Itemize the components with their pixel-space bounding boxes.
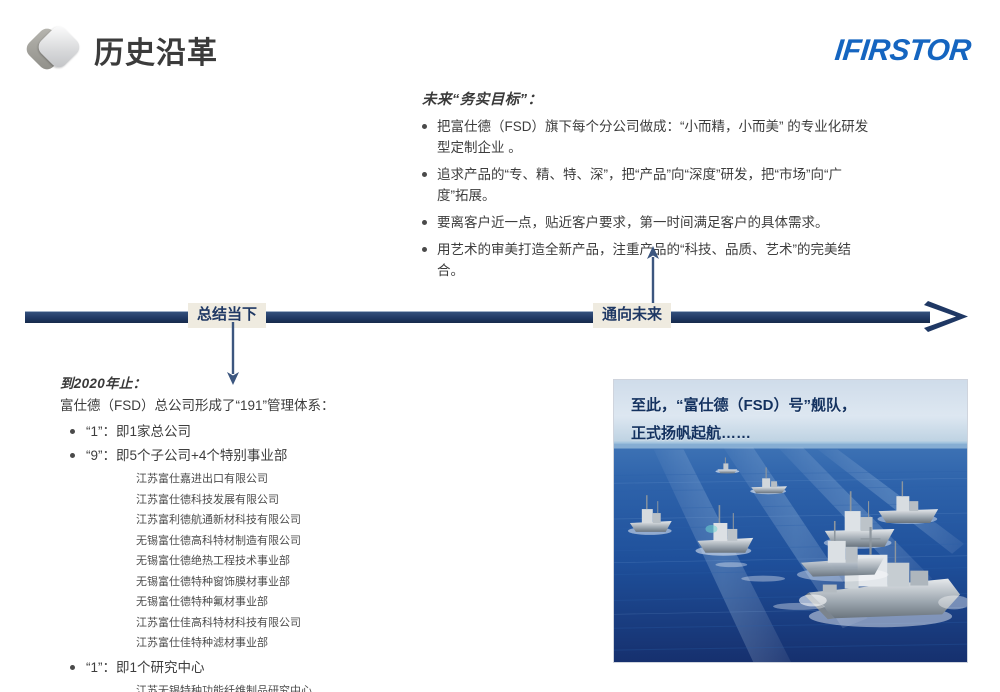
list-item: “1”：即1个研究中心 江苏无锡特种功能纤维制品研究中心 (60, 657, 400, 692)
list-item: “9”：即5个子公司+4个特别事业部 江苏富仕嘉进出口有限公司 江苏富仕德科技发… (60, 445, 400, 654)
diamond-logo-icon (28, 24, 84, 74)
research-center-list: 江苏无锡特种功能纤维制品研究中心 (86, 681, 400, 692)
subsidiary-item: 江苏富仕佳高科特材科技有限公司 (136, 613, 400, 634)
fleet-caption: 至此，“富仕德（FSD）号”舰队， 正式扬帆起航…… (631, 392, 856, 448)
research-center-item: 江苏无锡特种功能纤维制品研究中心 (136, 681, 400, 692)
list-item: “1”：即1家总公司 (60, 421, 400, 442)
slide-canvas: 历史沿革 IFIRSTOR 未来“务实目标”： 把富仕德（FSD）旗下每个分公司… (0, 0, 1000, 692)
past-summary-intro: 富仕德（FSD）总公司形成了“191”管理体系： (60, 396, 400, 416)
past-summary-list: “1”：即1家总公司 “9”：即5个子公司+4个特别事业部 江苏富仕嘉进出口有限… (60, 421, 400, 692)
timeline-bar (25, 311, 930, 323)
page-title: 历史沿革 (94, 28, 218, 72)
subsidiary-item: 无锡富仕德特种窗饰膜材事业部 (136, 572, 400, 593)
timeline-label-future[interactable]: 通向未来 (593, 303, 671, 328)
subsidiary-item: 江苏富仕佳特种滤材事业部 (136, 633, 400, 654)
timeline: 总结当下 通向未来 (0, 300, 1000, 342)
subsidiary-item: 无锡富仕德特种氟材事业部 (136, 592, 400, 613)
brand-logo: IFIRSTOR (833, 34, 972, 68)
subsidiary-item: 无锡富仕德高科特材制造有限公司 (136, 531, 400, 552)
subsidiary-item: 江苏富仕德科技发展有限公司 (136, 490, 400, 511)
past-summary-block: 到2020年止： 富仕德（FSD）总公司形成了“191”管理体系： “1”：即1… (60, 372, 400, 692)
past-summary-heading: 到2020年止： (60, 372, 400, 392)
arrow-right-icon (922, 300, 970, 334)
subsidiary-item: 江苏富利德航通新材科技有限公司 (136, 510, 400, 531)
list-item-label: “1”：即1个研究中心 (86, 657, 400, 678)
list-item: 追求产品的“专、精、特、深”，把“产品”向“深度”研发，把“市场”向“广度”拓展… (420, 164, 872, 206)
list-item: 把富仕德（FSD）旗下每个分公司做成：“小而精，小而美” 的专业化研发型定制企业… (420, 116, 872, 158)
subsidiary-item: 无锡富仕德绝热工程技术事业部 (136, 551, 400, 572)
naval-fleet-figure: 至此，“富仕德（FSD）号”舰队， 正式扬帆起航…… (613, 379, 968, 663)
list-item-label: “1”：即1家总公司 (86, 421, 400, 442)
subsidiary-item: 江苏富仕嘉进出口有限公司 (136, 469, 400, 490)
future-goals-heading: 未来“务实目标”： (422, 88, 872, 109)
list-item-label: “9”：即5个子公司+4个特别事业部 (86, 445, 400, 466)
list-item: 要离客户近一点，贴近客户要求，第一时间满足客户的具体需求。 (420, 212, 872, 233)
subsidiary-list: 江苏富仕嘉进出口有限公司 江苏富仕德科技发展有限公司 江苏富利德航通新材科技有限… (86, 469, 400, 654)
